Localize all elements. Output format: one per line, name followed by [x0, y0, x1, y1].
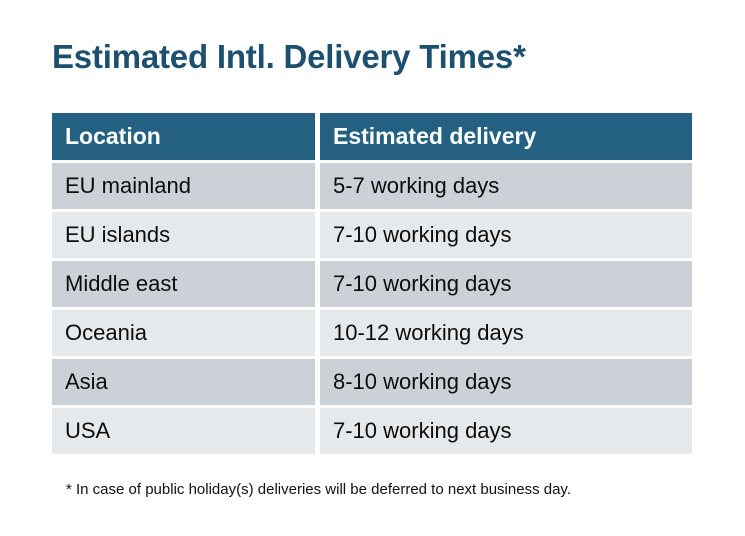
cell-delivery: 7-10 working days — [320, 408, 692, 454]
delivery-times-page: Estimated Intl. Delivery Times* Location… — [0, 0, 745, 536]
delivery-times-table: Location Estimated delivery EU mainland … — [52, 113, 692, 454]
page-title: Estimated Intl. Delivery Times* — [52, 37, 526, 77]
cell-location: Asia — [52, 359, 315, 405]
column-header-location: Location — [52, 113, 315, 160]
footnote-text: * In case of public holiday(s) deliverie… — [66, 480, 571, 500]
cell-delivery: 5-7 working days — [320, 163, 692, 209]
cell-location: Oceania — [52, 310, 315, 356]
cell-location: EU mainland — [52, 163, 315, 209]
cell-location: EU islands — [52, 212, 315, 258]
cell-location: USA — [52, 408, 315, 454]
cell-delivery: 8-10 working days — [320, 359, 692, 405]
table-row: Oceania 10-12 working days — [52, 310, 692, 356]
cell-delivery: 7-10 working days — [320, 261, 692, 307]
column-header-delivery: Estimated delivery — [320, 113, 692, 160]
table-row: Middle east 7-10 working days — [52, 261, 692, 307]
table-row: EU mainland 5-7 working days — [52, 163, 692, 209]
table-row: USA 7-10 working days — [52, 408, 692, 454]
table-row: EU islands 7-10 working days — [52, 212, 692, 258]
cell-delivery: 10-12 working days — [320, 310, 692, 356]
table-row: Asia 8-10 working days — [52, 359, 692, 405]
cell-location: Middle east — [52, 261, 315, 307]
cell-delivery: 7-10 working days — [320, 212, 692, 258]
table-header-row: Location Estimated delivery — [52, 113, 692, 160]
